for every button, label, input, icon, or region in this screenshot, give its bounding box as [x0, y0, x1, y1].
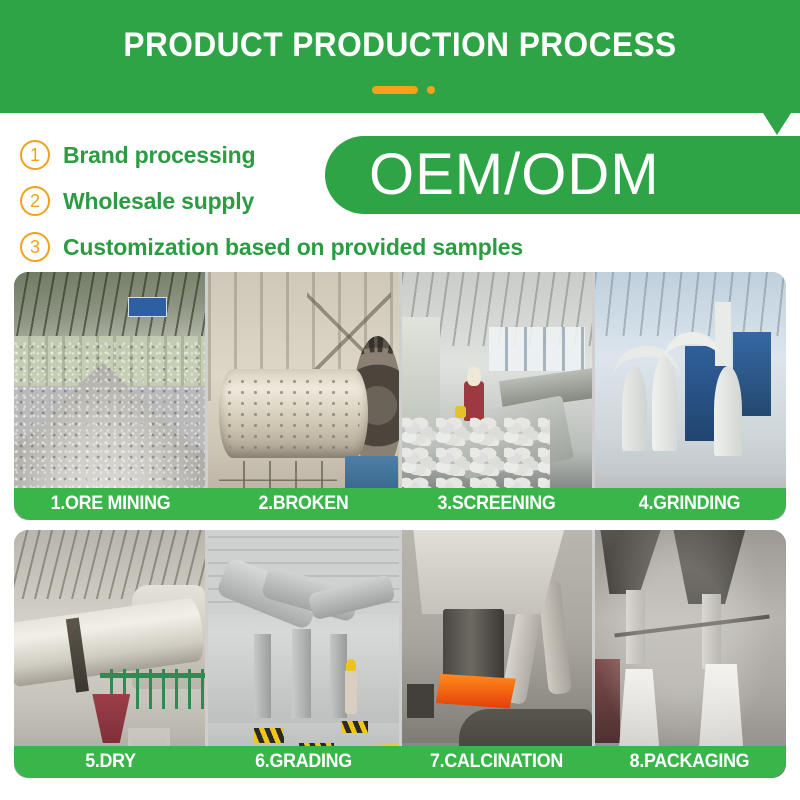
process-step-dry — [14, 530, 205, 778]
accent-dash-icon — [372, 86, 418, 94]
process-step-packaging — [595, 530, 786, 778]
grinding-mill-photo — [595, 272, 786, 520]
page-title: PRODUCT PRODUCTION PROCESS — [28, 26, 772, 65]
step-caption-5: 5.DRY — [20, 751, 201, 773]
list-number-badge: 1 — [20, 140, 50, 170]
process-step-broken — [208, 272, 399, 520]
ball-mill-photo — [208, 272, 399, 520]
calcination-kiln-photo — [402, 530, 593, 778]
header-bar: PRODUCT PRODUCTION PROCESS — [0, 0, 800, 113]
grading-plant-photo — [208, 530, 399, 778]
process-step-grinding — [595, 272, 786, 520]
accent-dot-icon — [427, 86, 435, 94]
process-step-screening — [402, 272, 593, 520]
step-caption-4: 4.GRINDING — [599, 493, 780, 515]
process-step-grading — [208, 530, 399, 778]
step-caption-6: 6.GRADING — [213, 751, 394, 773]
packaging-bags-photo — [595, 530, 786, 778]
list-number-badge: 3 — [20, 232, 50, 262]
list-item-label: Customization based on provided samples — [63, 234, 523, 261]
list-number-badge: 2 — [20, 186, 50, 216]
product-production-process-banner: PRODUCT PRODUCTION PROCESS 1 Brand proce… — [0, 0, 800, 800]
step-caption-2: 2.BROKEN — [213, 493, 394, 515]
process-row-1: 1.ORE MINING 2.BROKEN 3.SCREENING 4.GRIN… — [14, 272, 786, 520]
list-item: 3 Customization based on provided sample… — [20, 224, 620, 270]
step-caption-1: 1.ORE MINING — [20, 493, 201, 515]
process-row-2: 5.DRY 6.GRADING 7.CALCINATION 8.PACKAGIN… — [14, 530, 786, 778]
ore-mining-photo — [14, 272, 205, 520]
header-arrow-notch-icon — [763, 113, 791, 135]
screening-conveyor-photo — [402, 272, 593, 520]
step-caption-7: 7.CALCINATION — [406, 751, 587, 773]
process-row-1-captions: 1.ORE MINING 2.BROKEN 3.SCREENING 4.GRIN… — [14, 488, 786, 520]
oem-odm-label: OEM/ODM — [369, 146, 660, 204]
list-item-label: Brand processing — [63, 142, 255, 169]
step-caption-3: 3.SCREENING — [406, 493, 587, 515]
process-step-calcination — [402, 530, 593, 778]
process-step-ore-mining — [14, 272, 205, 520]
process-row-2-captions: 5.DRY 6.GRADING 7.CALCINATION 8.PACKAGIN… — [14, 746, 786, 778]
step-caption-8: 8.PACKAGING — [599, 751, 780, 773]
rotary-dryer-photo — [14, 530, 205, 778]
list-item-label: Wholesale supply — [63, 188, 254, 215]
oem-odm-banner: OEM/ODM — [325, 136, 800, 214]
